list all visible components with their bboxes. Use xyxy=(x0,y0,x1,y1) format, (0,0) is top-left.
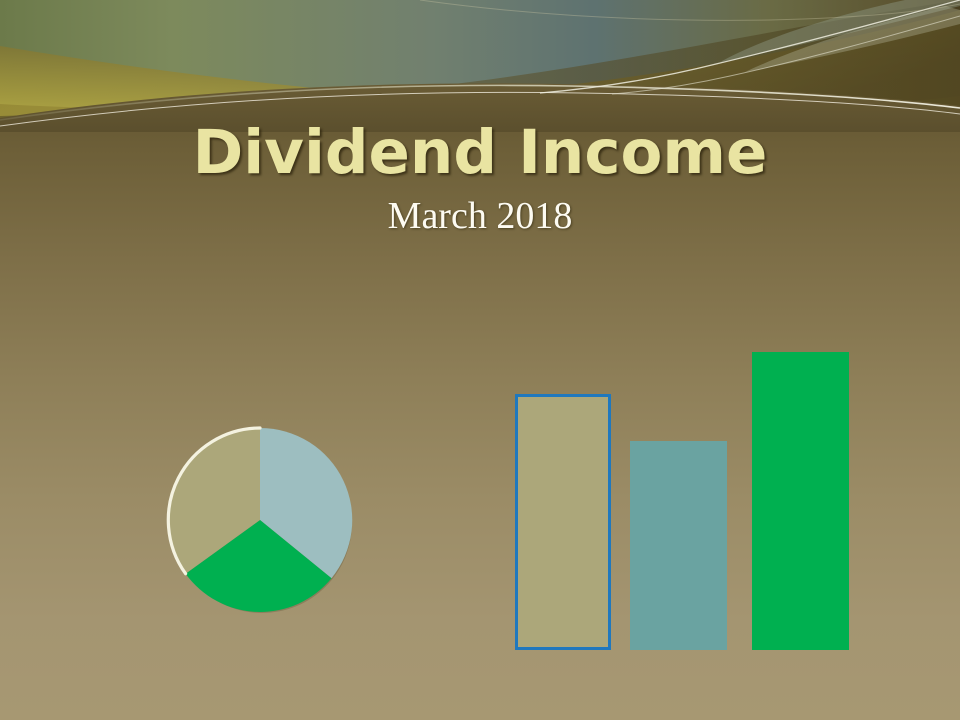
pie-chart-svg xyxy=(168,428,352,612)
page-title: Dividend Income xyxy=(0,118,960,188)
title-block: Dividend Income March 2018 xyxy=(0,118,960,238)
presentation-slide: Dividend Income March 2018 xyxy=(0,0,960,720)
bar-chart-bar-2[interactable] xyxy=(630,441,727,650)
swoosh-graphic xyxy=(0,0,960,132)
decorative-swoosh-band xyxy=(0,0,960,132)
bar-chart-bar-3[interactable] xyxy=(752,352,849,650)
pie-chart xyxy=(168,428,352,612)
page-subtitle: March 2018 xyxy=(0,194,960,238)
bar-chart xyxy=(505,330,865,650)
bar-chart-bar-1[interactable] xyxy=(515,394,611,650)
